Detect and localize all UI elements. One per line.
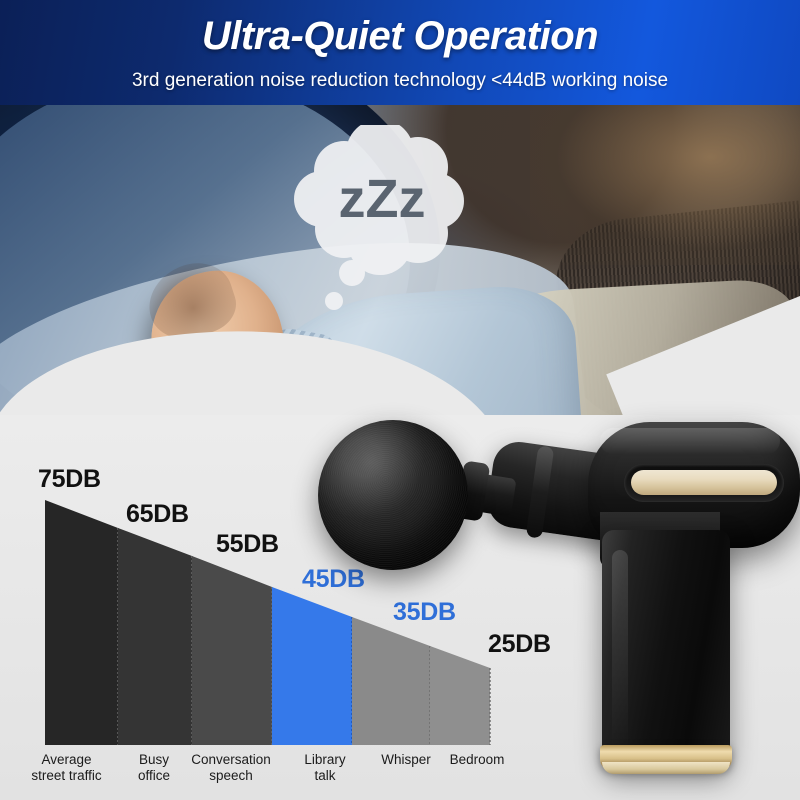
gun-body-highlight: [600, 428, 780, 454]
cat-line-1: Average: [41, 752, 91, 767]
cat-line-2: street traffic: [31, 768, 101, 783]
gun-base-lip: [602, 762, 730, 774]
bar-value-label: 75DB: [38, 465, 101, 494]
page-subtitle: 3rd generation noise reduction technolog…: [0, 70, 800, 92]
massage-gun-device: [300, 400, 800, 800]
page-root: Ultra-Quiet Operation 3rd generation noi…: [0, 0, 800, 800]
bar-value-label: 55DB: [216, 530, 279, 559]
cat-line-2: office: [138, 768, 170, 783]
page-title: Ultra-Quiet Operation: [0, 14, 800, 59]
gun-handle-highlight: [612, 550, 628, 750]
cat-line-2: speech: [209, 768, 253, 783]
warm-light-glow: [530, 105, 800, 265]
zzz-text: zZz: [339, 169, 426, 229]
gun-gold-accent-strip: [631, 470, 777, 495]
header-banner: Ultra-Quiet Operation 3rd generation noi…: [0, 0, 800, 108]
cat-line-1: Conversation: [191, 752, 271, 767]
gun-ball-texture: [318, 420, 468, 570]
sleep-thought-bubble-icon: zZz: [282, 125, 482, 335]
cat-line-1: Busy: [139, 752, 169, 767]
sleeping-baby-photo: zZz: [0, 105, 800, 415]
bar-value-label: 65DB: [126, 500, 189, 529]
